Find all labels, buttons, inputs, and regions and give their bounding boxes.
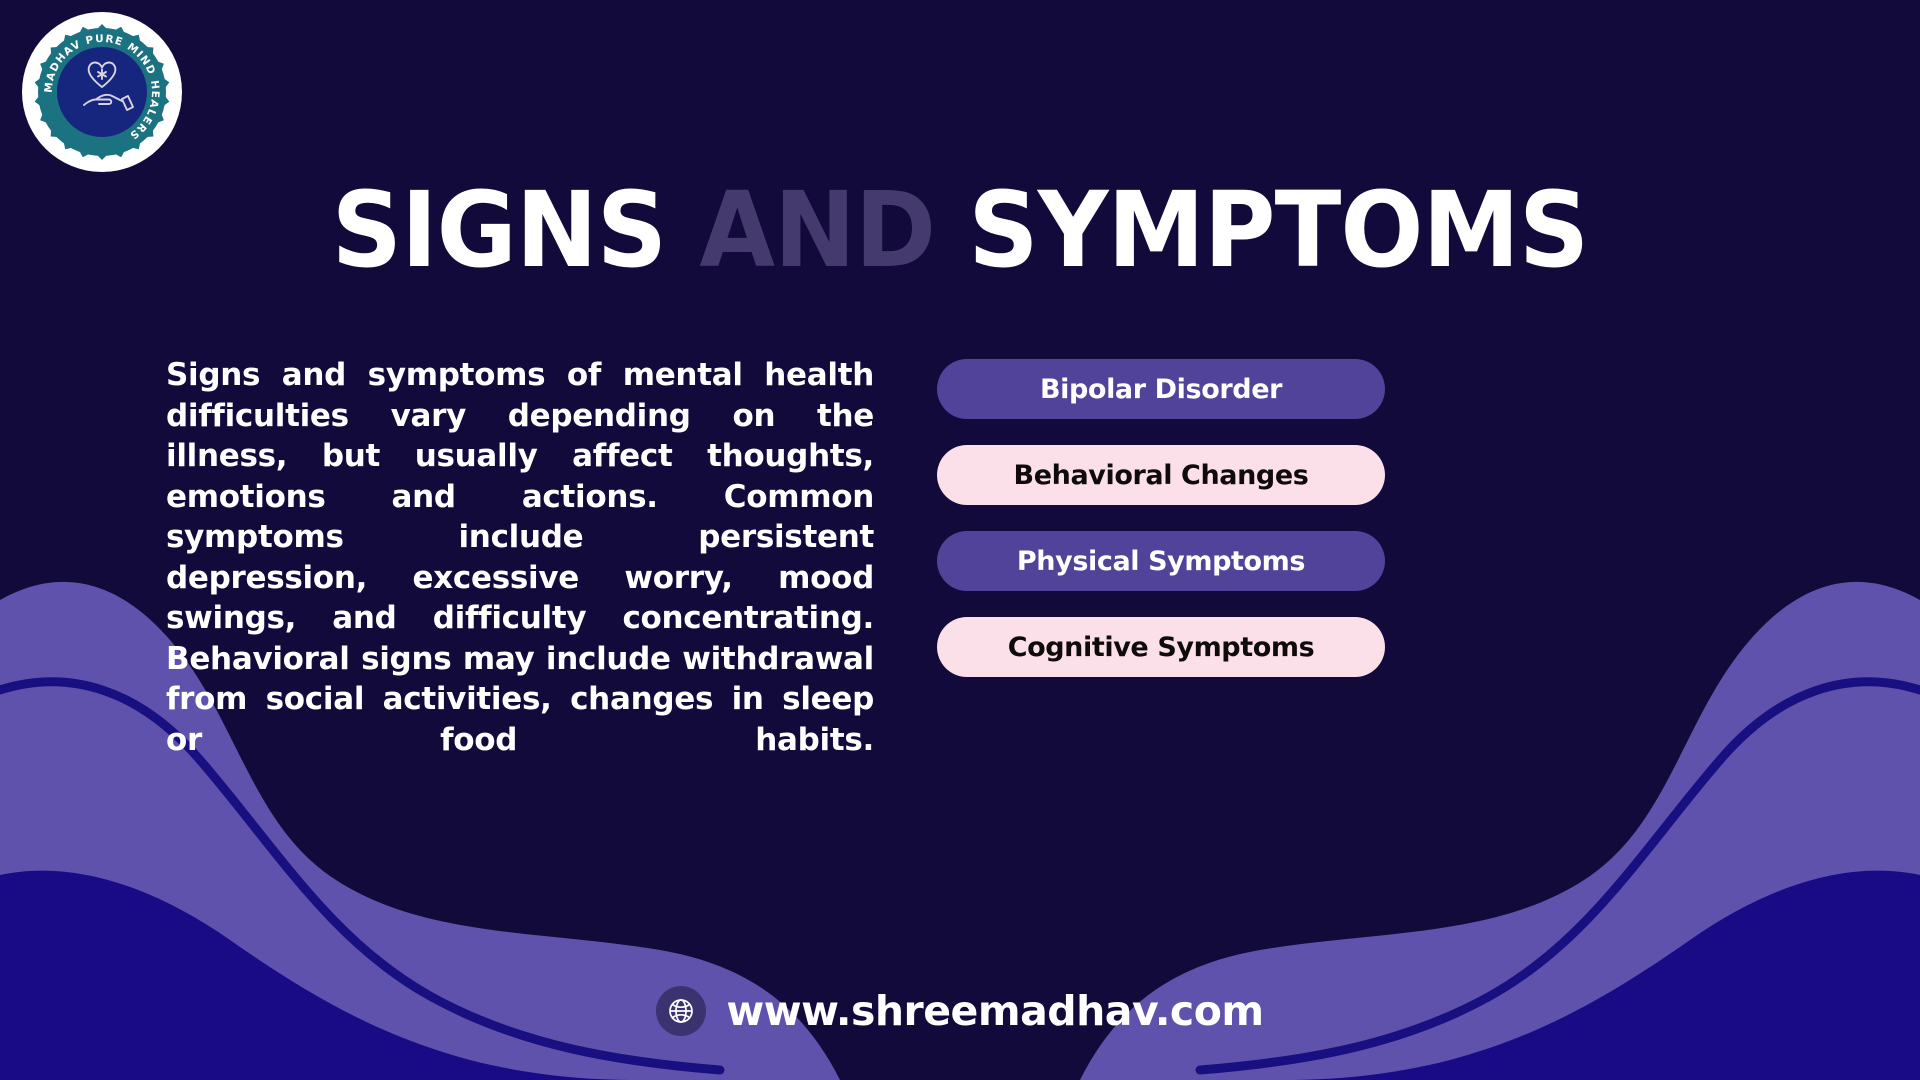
body-paragraph: Signs and symptoms of mental health diff… xyxy=(166,355,874,801)
title-part-signs: SIGNS xyxy=(332,169,667,291)
pill-physical-symptoms[interactable]: Physical Symptoms xyxy=(937,531,1385,591)
pill-label: Physical Symptoms xyxy=(1017,546,1305,577)
symptom-pill-list: Bipolar Disorder Behavioral Changes Phys… xyxy=(937,359,1385,677)
page-title: SIGNS AND SYMPTOMS xyxy=(0,178,1920,282)
globe-icon xyxy=(656,986,706,1036)
pill-label: Bipolar Disorder xyxy=(1040,374,1282,405)
logo-badge: SHREE MADHAV PURE MIND HEALERS xyxy=(22,12,182,172)
blob-left-deep xyxy=(0,871,640,1080)
footer-url[interactable]: www.shreemadhav.com xyxy=(726,987,1263,1035)
pill-label: Behavioral Changes xyxy=(1014,460,1309,491)
title-part-and: AND xyxy=(699,169,935,291)
pill-cognitive-symptoms[interactable]: Cognitive Symptoms xyxy=(937,617,1385,677)
title-part-symptoms: SYMPTOMS xyxy=(968,169,1588,291)
pill-label: Cognitive Symptoms xyxy=(1008,632,1315,663)
pill-bipolar-disorder[interactable]: Bipolar Disorder xyxy=(937,359,1385,419)
logo-icon: SHREE MADHAV PURE MIND HEALERS xyxy=(27,17,177,167)
footer: www.shreemadhav.com xyxy=(0,986,1920,1036)
blob-right-deep xyxy=(1280,871,1920,1080)
pill-behavioral-changes[interactable]: Behavioral Changes xyxy=(937,445,1385,505)
